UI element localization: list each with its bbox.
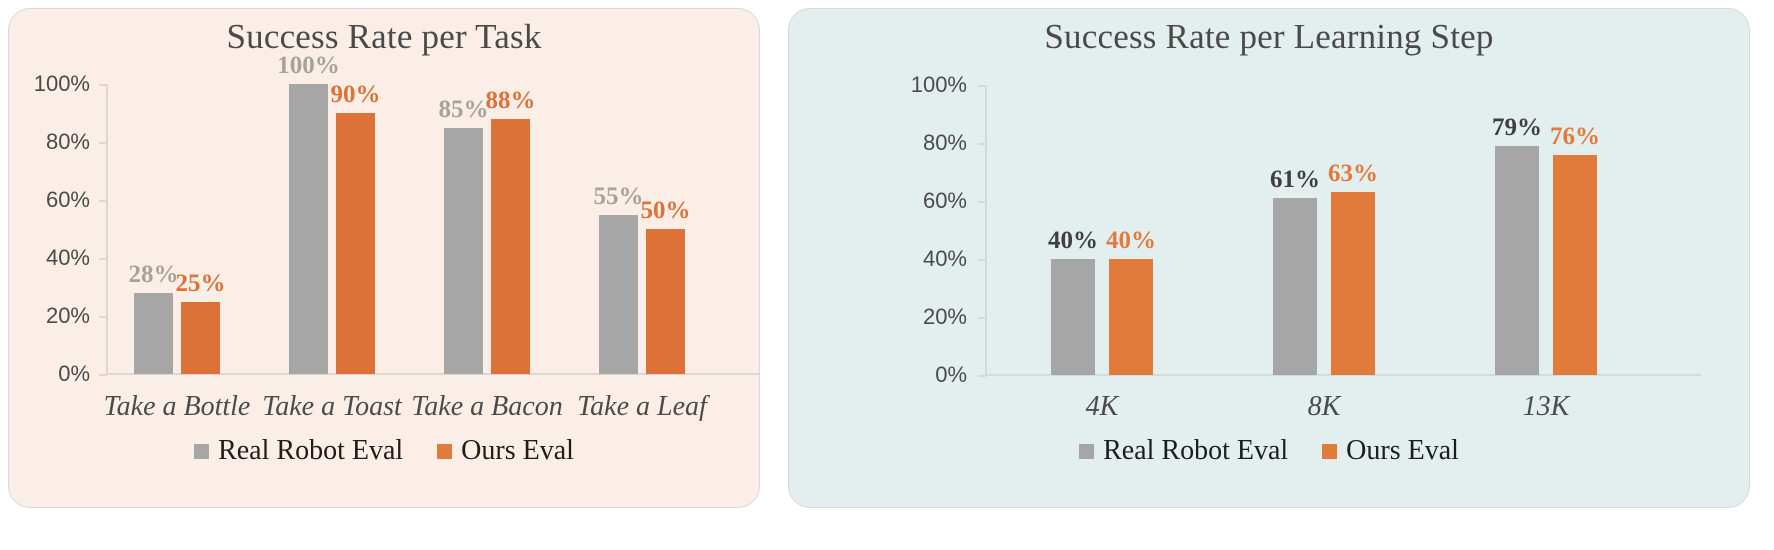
bar-value-label: 61% xyxy=(1270,166,1320,194)
y-axis-tick xyxy=(978,259,986,261)
bar-value-label: 40% xyxy=(1106,227,1156,255)
y-axis-tick xyxy=(99,316,107,318)
y-axis-tick xyxy=(99,374,107,376)
bar-value-label: 28% xyxy=(129,261,179,289)
legend-swatch-icon-orange xyxy=(1322,444,1337,459)
legend-label: Real Robot Eval xyxy=(1103,435,1288,467)
y-axis-tick-label: 40% xyxy=(46,245,90,271)
legend-swatch-icon-orange xyxy=(437,444,452,459)
bar-value-label: 85% xyxy=(439,96,489,124)
y-axis-tick-label: 80% xyxy=(46,129,90,155)
legend-swatch-icon-gray xyxy=(194,444,209,459)
bar xyxy=(336,113,375,374)
plot-area-learning-step: 0%20%40%60%80%100%40%40%61%63%79%76% xyxy=(985,85,1685,375)
bar xyxy=(134,293,173,374)
bar-value-label: 50% xyxy=(641,197,691,225)
bar-value-label: 76% xyxy=(1550,123,1600,151)
legend-item-real-robot-eval[interactable]: Real Robot Eval xyxy=(1079,435,1288,467)
bar xyxy=(289,84,328,374)
legend-label: Real Robot Eval xyxy=(218,435,403,467)
x-axis-category-label: Take a Leaf xyxy=(577,391,707,423)
bar xyxy=(599,215,638,375)
legend-swatch-icon-gray xyxy=(1079,444,1094,459)
legend-item-ours-eval[interactable]: Ours Eval xyxy=(1322,435,1459,467)
legend-item-ours-eval[interactable]: Ours Eval xyxy=(437,435,574,467)
bar xyxy=(646,229,685,374)
legend-item-real-robot-eval[interactable]: Real Robot Eval xyxy=(194,435,403,467)
bar xyxy=(444,128,483,375)
bar xyxy=(1273,198,1317,375)
bar-value-label: 88% xyxy=(486,87,536,115)
x-axis-category-label: 8K xyxy=(1308,391,1341,423)
legend-label: Ours Eval xyxy=(1346,435,1459,467)
legend-learning-step: Real Robot Eval Ours Eval xyxy=(789,435,1749,467)
bar xyxy=(1553,155,1597,375)
x-axis-category-label: Take a Bottle xyxy=(104,391,251,423)
bar xyxy=(1109,259,1153,375)
bar-value-label: 90% xyxy=(331,81,381,109)
legend-label: Ours Eval xyxy=(461,435,574,467)
chart-panel-learning-step: Success Rate per Learning Step 0%20%40%6… xyxy=(788,8,1750,508)
bar-value-label: 63% xyxy=(1328,160,1378,188)
y-axis-tick xyxy=(99,200,107,202)
bar xyxy=(1495,146,1539,375)
y-axis-tick-label: 0% xyxy=(58,361,90,387)
chart-title-learning-step: Success Rate per Learning Step xyxy=(789,17,1749,57)
y-axis-tick xyxy=(978,201,986,203)
y-axis-tick-label: 80% xyxy=(923,130,967,156)
chart-panel-task: Success Rate per Task 0%20%40%60%80%100%… xyxy=(8,8,760,508)
x-axis-category-label: Take a Bacon xyxy=(411,391,562,423)
bar xyxy=(1051,259,1095,375)
x-axis-category-label: 4K xyxy=(1086,391,1119,423)
y-axis-tick xyxy=(978,375,986,377)
y-axis-line xyxy=(106,84,108,374)
y-axis-tick xyxy=(978,85,986,87)
x-axis-category-label: Take a Toast xyxy=(262,391,402,423)
y-axis-tick-label: 60% xyxy=(46,187,90,213)
y-axis-tick xyxy=(99,258,107,260)
chart-title-task: Success Rate per Task xyxy=(9,17,759,57)
bar xyxy=(1331,192,1375,375)
y-axis-tick xyxy=(99,142,107,144)
bar xyxy=(181,302,220,375)
bar-value-label: 40% xyxy=(1048,227,1098,255)
y-axis-tick-label: 20% xyxy=(923,304,967,330)
bar-value-label: 100% xyxy=(277,52,340,80)
y-axis-tick-label: 100% xyxy=(34,71,90,97)
legend-task: Real Robot Eval Ours Eval xyxy=(9,435,759,467)
bar-value-label: 55% xyxy=(594,183,644,211)
y-axis-tick-label: 60% xyxy=(923,188,967,214)
y-axis-tick-label: 0% xyxy=(935,362,967,388)
y-axis-tick xyxy=(978,143,986,145)
x-axis-category-label: 13K xyxy=(1523,391,1570,423)
y-axis-line xyxy=(985,85,987,375)
bar-value-label: 25% xyxy=(176,270,226,298)
y-axis-tick xyxy=(978,317,986,319)
figure-root: Success Rate per Task 0%20%40%60%80%100%… xyxy=(0,0,1774,550)
y-axis-tick xyxy=(99,84,107,86)
y-axis-tick-label: 20% xyxy=(46,303,90,329)
y-axis-tick-label: 100% xyxy=(911,72,967,98)
bar xyxy=(491,119,530,374)
y-axis-tick-label: 40% xyxy=(923,246,967,272)
plot-area-task: 0%20%40%60%80%100%28%25%100%90%85%88%55%… xyxy=(106,84,746,374)
bar-value-label: 79% xyxy=(1492,114,1542,142)
